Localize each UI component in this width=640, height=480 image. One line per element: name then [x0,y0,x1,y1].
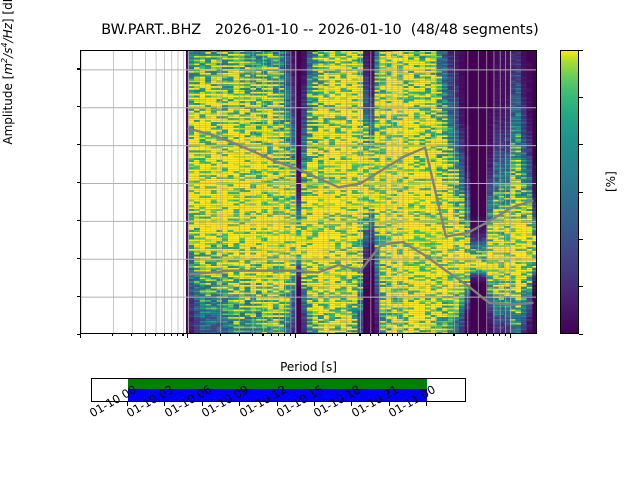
x-tick-mark [284,334,285,336]
y-tick-mark [77,258,81,259]
colorbar-tick-mark [579,50,583,51]
x-tick-mark [252,334,253,336]
colorbar-tick-mark [579,97,583,98]
x-tick-mark [80,334,81,338]
x-tick-mark [510,334,511,338]
x-tick-mark [453,334,454,336]
y-axis-unit-tail: /Hz [1,23,15,42]
x-tick-mark [370,334,371,336]
x-tick-mark [505,334,506,336]
x-tick-mark [182,334,183,336]
colorbar-tick-mark [579,192,583,193]
colorbar [560,50,579,334]
x-tick-mark [145,334,146,336]
x-tick-mark [271,334,272,336]
x-tick-mark [327,334,328,336]
x-tick-mark [164,334,165,336]
plot-title: BW.PART..BHZ 2026-01-10 -- 2026-01-10 (4… [0,22,640,38]
y-axis-unit-exp2: 4 [0,42,9,47]
y-tick-mark [77,68,81,69]
y-tick-mark [77,296,81,297]
x-axis-label: Period [s] [80,360,537,374]
x-tick-mark [397,334,398,336]
y-tick-mark [77,144,81,145]
colorbar-tick-mark [579,239,583,240]
x-tick-mark [378,334,379,336]
x-tick-mark [386,334,387,336]
x-tick-mark [486,334,487,336]
colorbar-label: [%] [604,171,618,192]
x-tick-mark [262,334,263,336]
x-tick-mark [359,334,360,336]
x-tick-mark [290,334,291,336]
colorbar-tick-mark [579,144,583,145]
y-tick-mark [77,182,81,183]
x-tick-mark [239,334,240,336]
x-tick-mark [346,334,347,336]
ppsd-axes [80,50,537,334]
x-tick-mark [295,334,296,338]
x-tick-mark [499,334,500,336]
y-axis-unit-mid: /s [1,48,15,58]
coverage-tick-mark [426,402,427,406]
y-axis-label-suffix: ] [dB] [1,0,15,23]
x-tick-mark [220,334,221,336]
noise-model-nlnm [188,242,532,304]
x-tick-mark [171,334,172,336]
x-tick-mark [131,334,132,336]
x-tick-mark [467,334,468,336]
y-axis-label: Amplitude [m2/s4/Hz] [dB] [0,0,15,192]
x-tick-mark [392,334,393,336]
x-tick-mark [112,334,113,336]
noise-model-curves [81,51,537,334]
noise-model-nhnm [188,129,532,237]
ppsd-figure: BW.PART..BHZ 2026-01-10 -- 2026-01-10 (4… [0,0,640,480]
y-tick-mark [77,106,81,107]
y-axis-unit-exp1: 2 [0,58,9,63]
x-tick-mark [435,334,436,336]
colorbar-tick-mark [579,286,583,287]
colorbar-tick-mark [579,334,583,335]
x-tick-mark [155,334,156,336]
x-tick-mark [477,334,478,336]
y-axis-label-prefix: Amplitude [ [1,75,15,145]
y-tick-mark [77,220,81,221]
x-tick-mark [402,334,403,338]
y-axis-unit-base: m [1,63,15,75]
x-tick-mark [278,334,279,336]
x-tick-mark [177,334,178,336]
x-tick-mark [187,334,188,338]
x-tick-mark [493,334,494,336]
